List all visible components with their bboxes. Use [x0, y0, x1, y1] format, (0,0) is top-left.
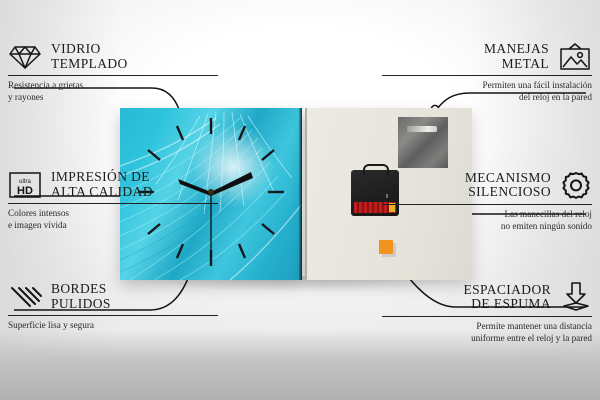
feature-divider — [382, 204, 592, 205]
feature-subtitle: Permiten una fácil instalación del reloj… — [382, 80, 592, 103]
feature-divider — [8, 75, 218, 76]
feature-divider — [8, 203, 218, 204]
feature-divider — [8, 315, 218, 316]
feature-title: ESPACIADOR DE ESPUMA — [463, 283, 551, 312]
foam-spacer-icon — [560, 282, 592, 312]
feature-title: MECANISMO SILENCIOSO — [465, 171, 551, 200]
feature-subtitle: Superficie lisa y segura — [8, 320, 218, 332]
feature-title: MANEJAS METAL — [484, 42, 549, 71]
feature-manejas-metal: MANEJAS METAL Permiten una fácil instala… — [382, 42, 592, 103]
foam-spacer-pad — [379, 240, 393, 254]
feature-subtitle: Permite mantener una distancia uniforme … — [382, 321, 592, 344]
feature-mecanismo-silencioso: MECANISMO SILENCIOSO Las manecillas del … — [382, 170, 592, 232]
hanger-slot — [407, 126, 437, 132]
feature-subtitle: Resistencia a grietas y rayones — [8, 80, 218, 103]
feature-title: IMPRESIÓN DE ALTA CALIDAD — [51, 170, 153, 199]
back-panel-left-edge — [305, 108, 307, 280]
feature-impresion-alta-calidad: ultra HD IMPRESIÓN DE ALTA CALIDAD Color… — [8, 170, 218, 231]
feature-title: BORDES PULIDOS — [51, 282, 111, 311]
metal-hanger-plate — [398, 117, 448, 168]
feature-vidrio-templado: VIDRIO TEMPLADO Resistencia a grietas y … — [8, 42, 218, 103]
clock-right-edge — [299, 108, 302, 280]
feature-divider — [382, 75, 592, 76]
infographic-canvas: VIDRIO TEMPLADO Resistencia a grietas y … — [0, 0, 600, 400]
ultra-hd-large-text: HD — [17, 185, 33, 197]
polished-edges-icon — [8, 284, 42, 310]
feature-subtitle: Colores intensos e imagen vívida — [8, 208, 218, 231]
feature-bordes-pulidos: BORDES PULIDOS Superficie lisa y segura — [8, 282, 218, 332]
ultra-hd-icon: ultra HD — [8, 171, 42, 199]
picture-hanger-icon — [558, 43, 592, 71]
feature-title: VIDRIO TEMPLADO — [51, 42, 128, 71]
gear-icon — [560, 170, 592, 200]
diamond-icon — [8, 44, 42, 70]
feature-espaciador-espuma: ESPACIADOR DE ESPUMA Permite mantener un… — [382, 282, 592, 344]
feature-subtitle: Las manecillas del reloj no emiten ningú… — [382, 209, 592, 232]
feature-divider — [382, 316, 592, 317]
